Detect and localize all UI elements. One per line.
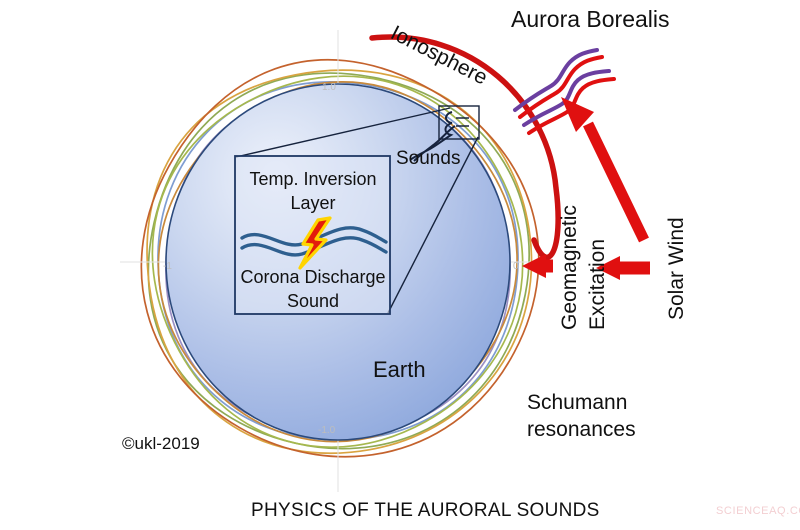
diagram-title: PHYSICS OF THE AURORAL SOUNDS <box>251 500 600 522</box>
label-earth: Earth <box>373 357 426 383</box>
watermark: SCIENCEAQ.COM <box>716 505 800 517</box>
axis-tick-top: 1.0 <box>322 82 336 93</box>
label-geomagnetic-line1: Geomagnetic <box>558 205 582 330</box>
axis-tick-left: -1 <box>163 261 172 272</box>
axis-tick-right: 0 <box>513 261 519 272</box>
axis-tick-bottom: -1.0 <box>318 425 335 436</box>
label-schumann-resonances: Schumann resonances <box>527 390 636 444</box>
label-sounds: Sounds <box>396 148 460 170</box>
label-geomagnetic-line2: Excitation <box>586 239 610 330</box>
label-solar-wind: Solar Wind <box>665 217 689 320</box>
schumann-line2: resonances <box>527 418 636 441</box>
diagram-canvas: Temp. Inversion Layer Corona Discharge S… <box>0 0 800 530</box>
schumann-line1: Schumann <box>527 391 627 414</box>
copyright-text: ©ukl-2019 <box>122 434 200 454</box>
arrow-geomagnetic-to-earth <box>522 254 553 278</box>
label-aurora-borealis: Aurora Borealis <box>511 6 670 33</box>
